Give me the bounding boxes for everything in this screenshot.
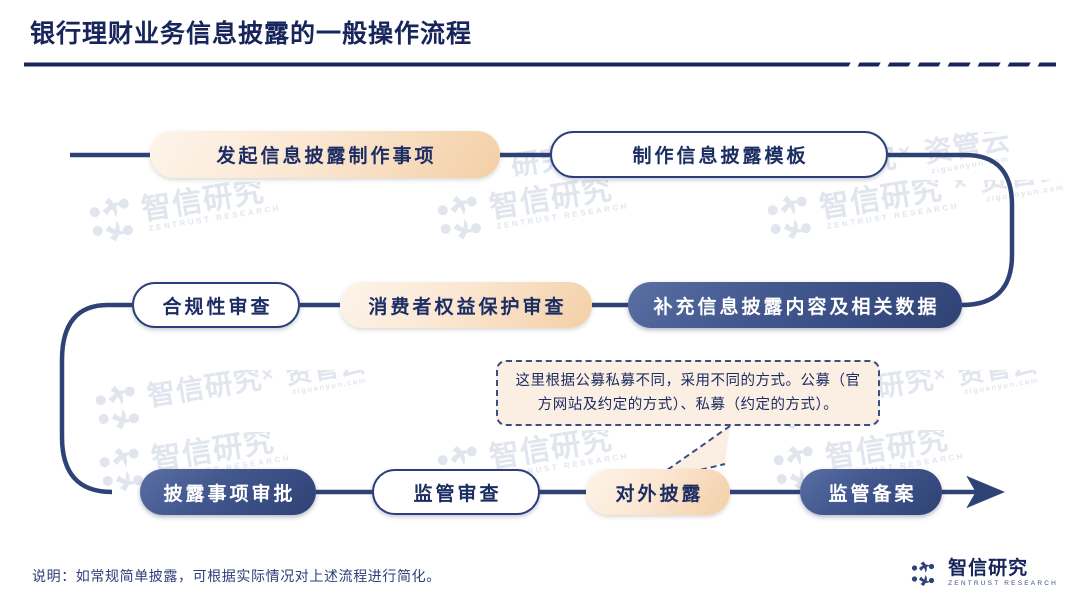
flow-node-regulatory-filing[interactable]: 监管备案	[800, 469, 942, 515]
svg-text:智信研究: 智信研究	[139, 182, 267, 227]
flow-node-consumer-rights-review[interactable]: 消费者权益保护审查	[340, 282, 592, 328]
svg-text:ZENTRUST RESEARCH: ZENTRUST RESEARCH	[826, 201, 960, 231]
footer-logo-cn: 智信研究	[948, 559, 1058, 578]
flow-node-initiate-disclosure[interactable]: 发起信息披露制作事项	[150, 131, 500, 178]
header-divider	[24, 60, 1056, 69]
footer-logo-text: 智信研究 ZENTRUST RESEARCH	[948, 559, 1058, 588]
footer-logo: 智信研究 ZENTRUST RESEARCH	[907, 558, 1058, 588]
svg-text:×: ×	[952, 180, 969, 196]
footer-logo-en: ZENTRUST RESEARCH	[948, 581, 1058, 588]
svg-text:资管云: 资管云	[283, 370, 368, 390]
flow-node-external-disclosure[interactable]: 对外披露	[586, 469, 730, 515]
flow-node-regulatory-review[interactable]: 监管审查	[372, 469, 540, 515]
svg-text:×: ×	[260, 370, 275, 387]
svg-text:ziguanyun.com: ziguanyun.com	[931, 154, 1010, 175]
connector-n3-n6	[62, 305, 132, 492]
svg-text:×: ×	[896, 139, 913, 166]
svg-text:ZENTRUST RESEARCH: ZENTRUST RESEARCH	[496, 201, 630, 231]
svg-text:资管云: 资管云	[922, 132, 1013, 168]
page-title: 银行理财业务信息披露的一般操作流程	[30, 14, 472, 50]
svg-text:ziguanyun.com: ziguanyun.com	[986, 183, 1065, 204]
svg-text:×: ×	[932, 370, 947, 387]
svg-text:资管云: 资管云	[977, 180, 1068, 197]
watermark-logo-icon: 智信研究 ZENTRUST RESEARCH × 资管云 ziguanyun.c…	[760, 180, 1080, 250]
watermark-brand: 智信研究 ZENTRUST RESEARCH	[82, 182, 332, 252]
svg-text:智信研究: 智信研究	[145, 370, 265, 412]
watermark-brand: 智信研究 ZENTRUST RESEARCH × 资管云 ziguanyun.c…	[760, 180, 1080, 250]
flow-node-supplement-content[interactable]: 补充信息披露内容及相关数据	[628, 282, 962, 328]
svg-text:智信研究: 智信研究	[817, 180, 945, 225]
svg-text:资管云: 资管云	[955, 370, 1040, 390]
watermark-brand-partner: 智信研究 × 资管云 ziguanyun.com	[88, 370, 418, 440]
zentrust-logo-icon	[907, 558, 941, 588]
flow-node-create-template[interactable]: 制作信息披露模板	[550, 131, 888, 178]
watermark-logo-icon: 智信研究 ZENTRUST RESEARCH	[430, 180, 680, 250]
callout-box: 这里根据公募私募不同，采用不同的方式。公募（官方网站及约定的方式）、私募（约定的…	[496, 360, 880, 426]
watermark-logo-icon: 智信研究 × 资管云 ziguanyun.com	[88, 370, 418, 440]
svg-text:ziguanyun.com: ziguanyun.com	[292, 376, 368, 397]
watermark-brand: 智信研究 ZENTRUST RESEARCH	[430, 180, 680, 250]
footer-note: 说明：如常规简单披露，可根据实际情况对上述流程进行简化。	[32, 566, 441, 586]
flow-node-compliance-review[interactable]: 合规性审查	[132, 282, 300, 328]
slide-canvas: 智信研究 ZENTRUST RESEARCH 智信研究 ZENTRUST RES…	[0, 0, 1080, 608]
callout-text: 这里根据公募私募不同，采用不同的方式。公募（官方网站及约定的方式）、私募（约定的…	[512, 369, 864, 417]
svg-text:ziguanyun.com: ziguanyun.com	[964, 376, 1040, 397]
svg-text:智信研究: 智信研究	[487, 180, 615, 225]
flow-node-disclosure-approval[interactable]: 披露事项审批	[140, 469, 316, 515]
svg-text:ZENTRUST RESEARCH: ZENTRUST RESEARCH	[148, 203, 282, 233]
watermark-logo-icon: 智信研究 ZENTRUST RESEARCH	[82, 182, 332, 252]
